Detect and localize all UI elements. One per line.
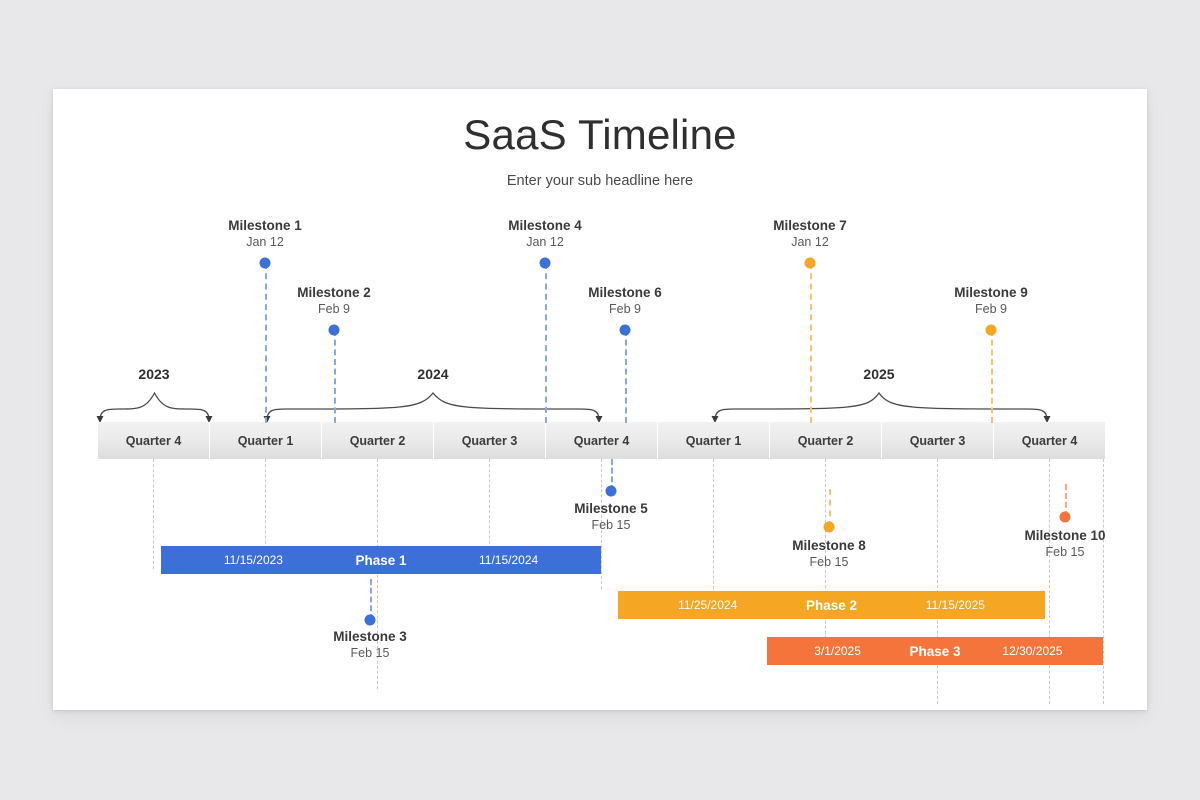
milestone-date: Jan 12 xyxy=(228,234,302,250)
milestone-name: Milestone 9 xyxy=(954,284,1028,301)
milestone-stem-1 xyxy=(265,263,267,423)
milestone-name: Milestone 3 xyxy=(333,628,407,645)
milestone-date: Feb 15 xyxy=(1024,544,1105,560)
guide-line xyxy=(937,459,938,704)
quarter-cell-1[interactable]: Quarter 1 xyxy=(210,422,322,459)
milestone-date: Feb 9 xyxy=(588,301,662,317)
phase-bar-2[interactable]: 11/25/2024 Phase 2 11/15/2025 xyxy=(618,591,1045,619)
milestone-name: Milestone 2 xyxy=(297,284,371,301)
milestone-stem-7 xyxy=(810,263,812,423)
milestone-date: Feb 15 xyxy=(792,554,866,570)
milestone-dot-9[interactable] xyxy=(986,325,997,336)
quarter-label: Quarter 4 xyxy=(1022,434,1078,448)
milestone-name: Milestone 1 xyxy=(228,217,302,234)
quarter-cell-0[interactable]: Quarter 4 xyxy=(98,422,210,459)
quarter-cell-8[interactable]: Quarter 4 xyxy=(994,422,1106,459)
milestone-label-4: Milestone 4 Jan 12 xyxy=(508,217,582,250)
quarter-cell-2[interactable]: Quarter 2 xyxy=(322,422,434,459)
milestone-name: Milestone 5 xyxy=(574,500,648,517)
milestone-dot-8[interactable] xyxy=(824,522,835,533)
quarter-cell-4[interactable]: Quarter 4 xyxy=(546,422,658,459)
guide-line xyxy=(1103,459,1104,704)
guide-line xyxy=(489,459,490,559)
milestone-dot-10[interactable] xyxy=(1060,512,1071,523)
milestone-name: Milestone 7 xyxy=(773,217,847,234)
year-label-2024: 2024 xyxy=(417,366,448,382)
milestone-dot-4[interactable] xyxy=(540,258,551,269)
milestone-stem-9 xyxy=(991,330,993,423)
quarter-cell-7[interactable]: Quarter 3 xyxy=(882,422,994,459)
guide-line xyxy=(153,459,154,569)
milestone-dot-6[interactable] xyxy=(620,325,631,336)
guide-line xyxy=(265,459,266,559)
milestone-label-6: Milestone 6 Feb 9 xyxy=(588,284,662,317)
quarter-label: Quarter 4 xyxy=(574,434,630,448)
milestone-label-1: Milestone 1 Jan 12 xyxy=(228,217,302,250)
phase-bar-1[interactable]: 11/15/2023 Phase 1 11/15/2024 xyxy=(161,546,601,574)
milestone-name: Milestone 8 xyxy=(792,537,866,554)
milestone-label-3: Milestone 3 Feb 15 xyxy=(333,628,407,661)
milestone-stem-2 xyxy=(334,330,336,423)
milestone-date: Feb 9 xyxy=(297,301,371,317)
milestone-date: Feb 9 xyxy=(954,301,1028,317)
phase-end-date: 12/30/2025 xyxy=(962,644,1103,658)
guide-line xyxy=(1049,459,1050,704)
year-brace-2025 xyxy=(713,387,1049,423)
milestone-date: Jan 12 xyxy=(508,234,582,250)
milestone-dot-2[interactable] xyxy=(329,325,340,336)
year-label-2023: 2023 xyxy=(138,366,169,382)
phase-bar-3[interactable]: 3/1/2025 Phase 3 12/30/2025 xyxy=(767,637,1103,665)
milestone-label-2: Milestone 2 Feb 9 xyxy=(297,284,371,317)
quarter-label: Quarter 1 xyxy=(238,434,294,448)
milestone-label-9: Milestone 9 Feb 9 xyxy=(954,284,1028,317)
quarter-cell-5[interactable]: Quarter 1 xyxy=(658,422,770,459)
milestone-date: Jan 12 xyxy=(773,234,847,250)
quarter-label: Quarter 4 xyxy=(126,434,182,448)
milestone-date: Feb 15 xyxy=(333,645,407,661)
year-brace-2024 xyxy=(265,387,601,423)
milestone-dot-5[interactable] xyxy=(606,486,617,497)
milestone-name: Milestone 6 xyxy=(588,284,662,301)
phase-end-date: 11/15/2025 xyxy=(866,598,1045,612)
milestone-stem-4 xyxy=(545,263,547,423)
quarter-label: Quarter 1 xyxy=(686,434,742,448)
year-brace-2023 xyxy=(98,387,213,423)
year-label-2025: 2025 xyxy=(863,366,894,382)
milestone-dot-1[interactable] xyxy=(260,258,271,269)
milestone-dot-3[interactable] xyxy=(365,615,376,626)
milestone-dot-7[interactable] xyxy=(805,258,816,269)
milestone-label-8: Milestone 8 Feb 15 xyxy=(792,537,866,570)
slide-card: SaaS Timeline Enter your sub headline he… xyxy=(53,89,1147,710)
quarter-label: Quarter 3 xyxy=(910,434,966,448)
milestone-date: Feb 15 xyxy=(574,517,648,533)
milestone-label-10: Milestone 10 Feb 15 xyxy=(1024,527,1105,560)
milestone-label-5: Milestone 5 Feb 15 xyxy=(574,500,648,533)
phase-end-date: 11/15/2024 xyxy=(416,553,601,567)
quarter-label: Quarter 2 xyxy=(798,434,854,448)
quarter-cell-3[interactable]: Quarter 3 xyxy=(434,422,546,459)
guide-line xyxy=(713,459,714,609)
quarter-label: Quarter 2 xyxy=(350,434,406,448)
timeline-chart: 2023 2024 2025 Quarter 4 Quarter 1 Quart… xyxy=(53,89,1147,710)
milestone-name: Milestone 4 xyxy=(508,217,582,234)
quarter-cell-6[interactable]: Quarter 2 xyxy=(770,422,882,459)
milestone-label-7: Milestone 7 Jan 12 xyxy=(773,217,847,250)
quarter-label: Quarter 3 xyxy=(462,434,518,448)
milestone-name: Milestone 10 xyxy=(1024,527,1105,544)
milestone-stem-6 xyxy=(625,330,627,423)
